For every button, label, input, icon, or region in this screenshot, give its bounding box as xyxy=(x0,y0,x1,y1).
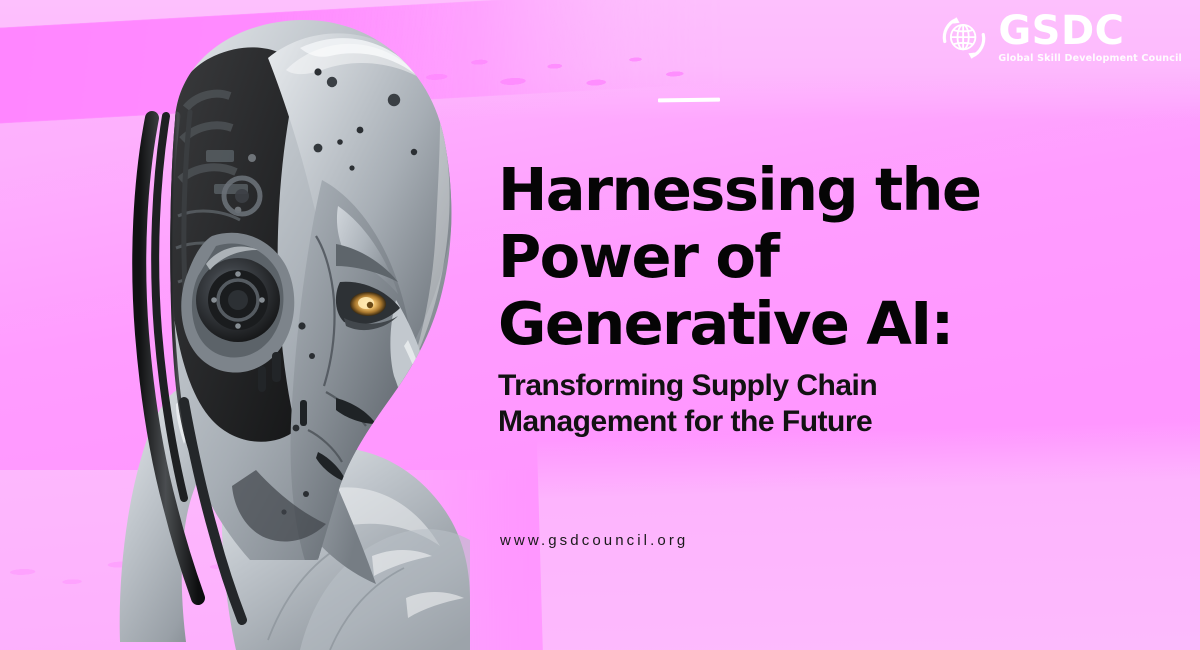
page-subtitle: Transforming Supply Chain Management for… xyxy=(498,368,1018,440)
robot-illustration xyxy=(0,0,470,650)
page-title: Harnessing the Power of Generative AI: xyxy=(498,156,1018,357)
robot-artwork xyxy=(0,0,470,650)
website-url[interactable]: www.gsdcouncil.org xyxy=(500,532,688,549)
hero-banner: GSDC Global Skill Development Council Ha… xyxy=(0,0,1200,650)
hero-content: Harnessing the Power of Generative AI: T… xyxy=(498,0,1058,650)
heading-divider xyxy=(658,98,720,103)
